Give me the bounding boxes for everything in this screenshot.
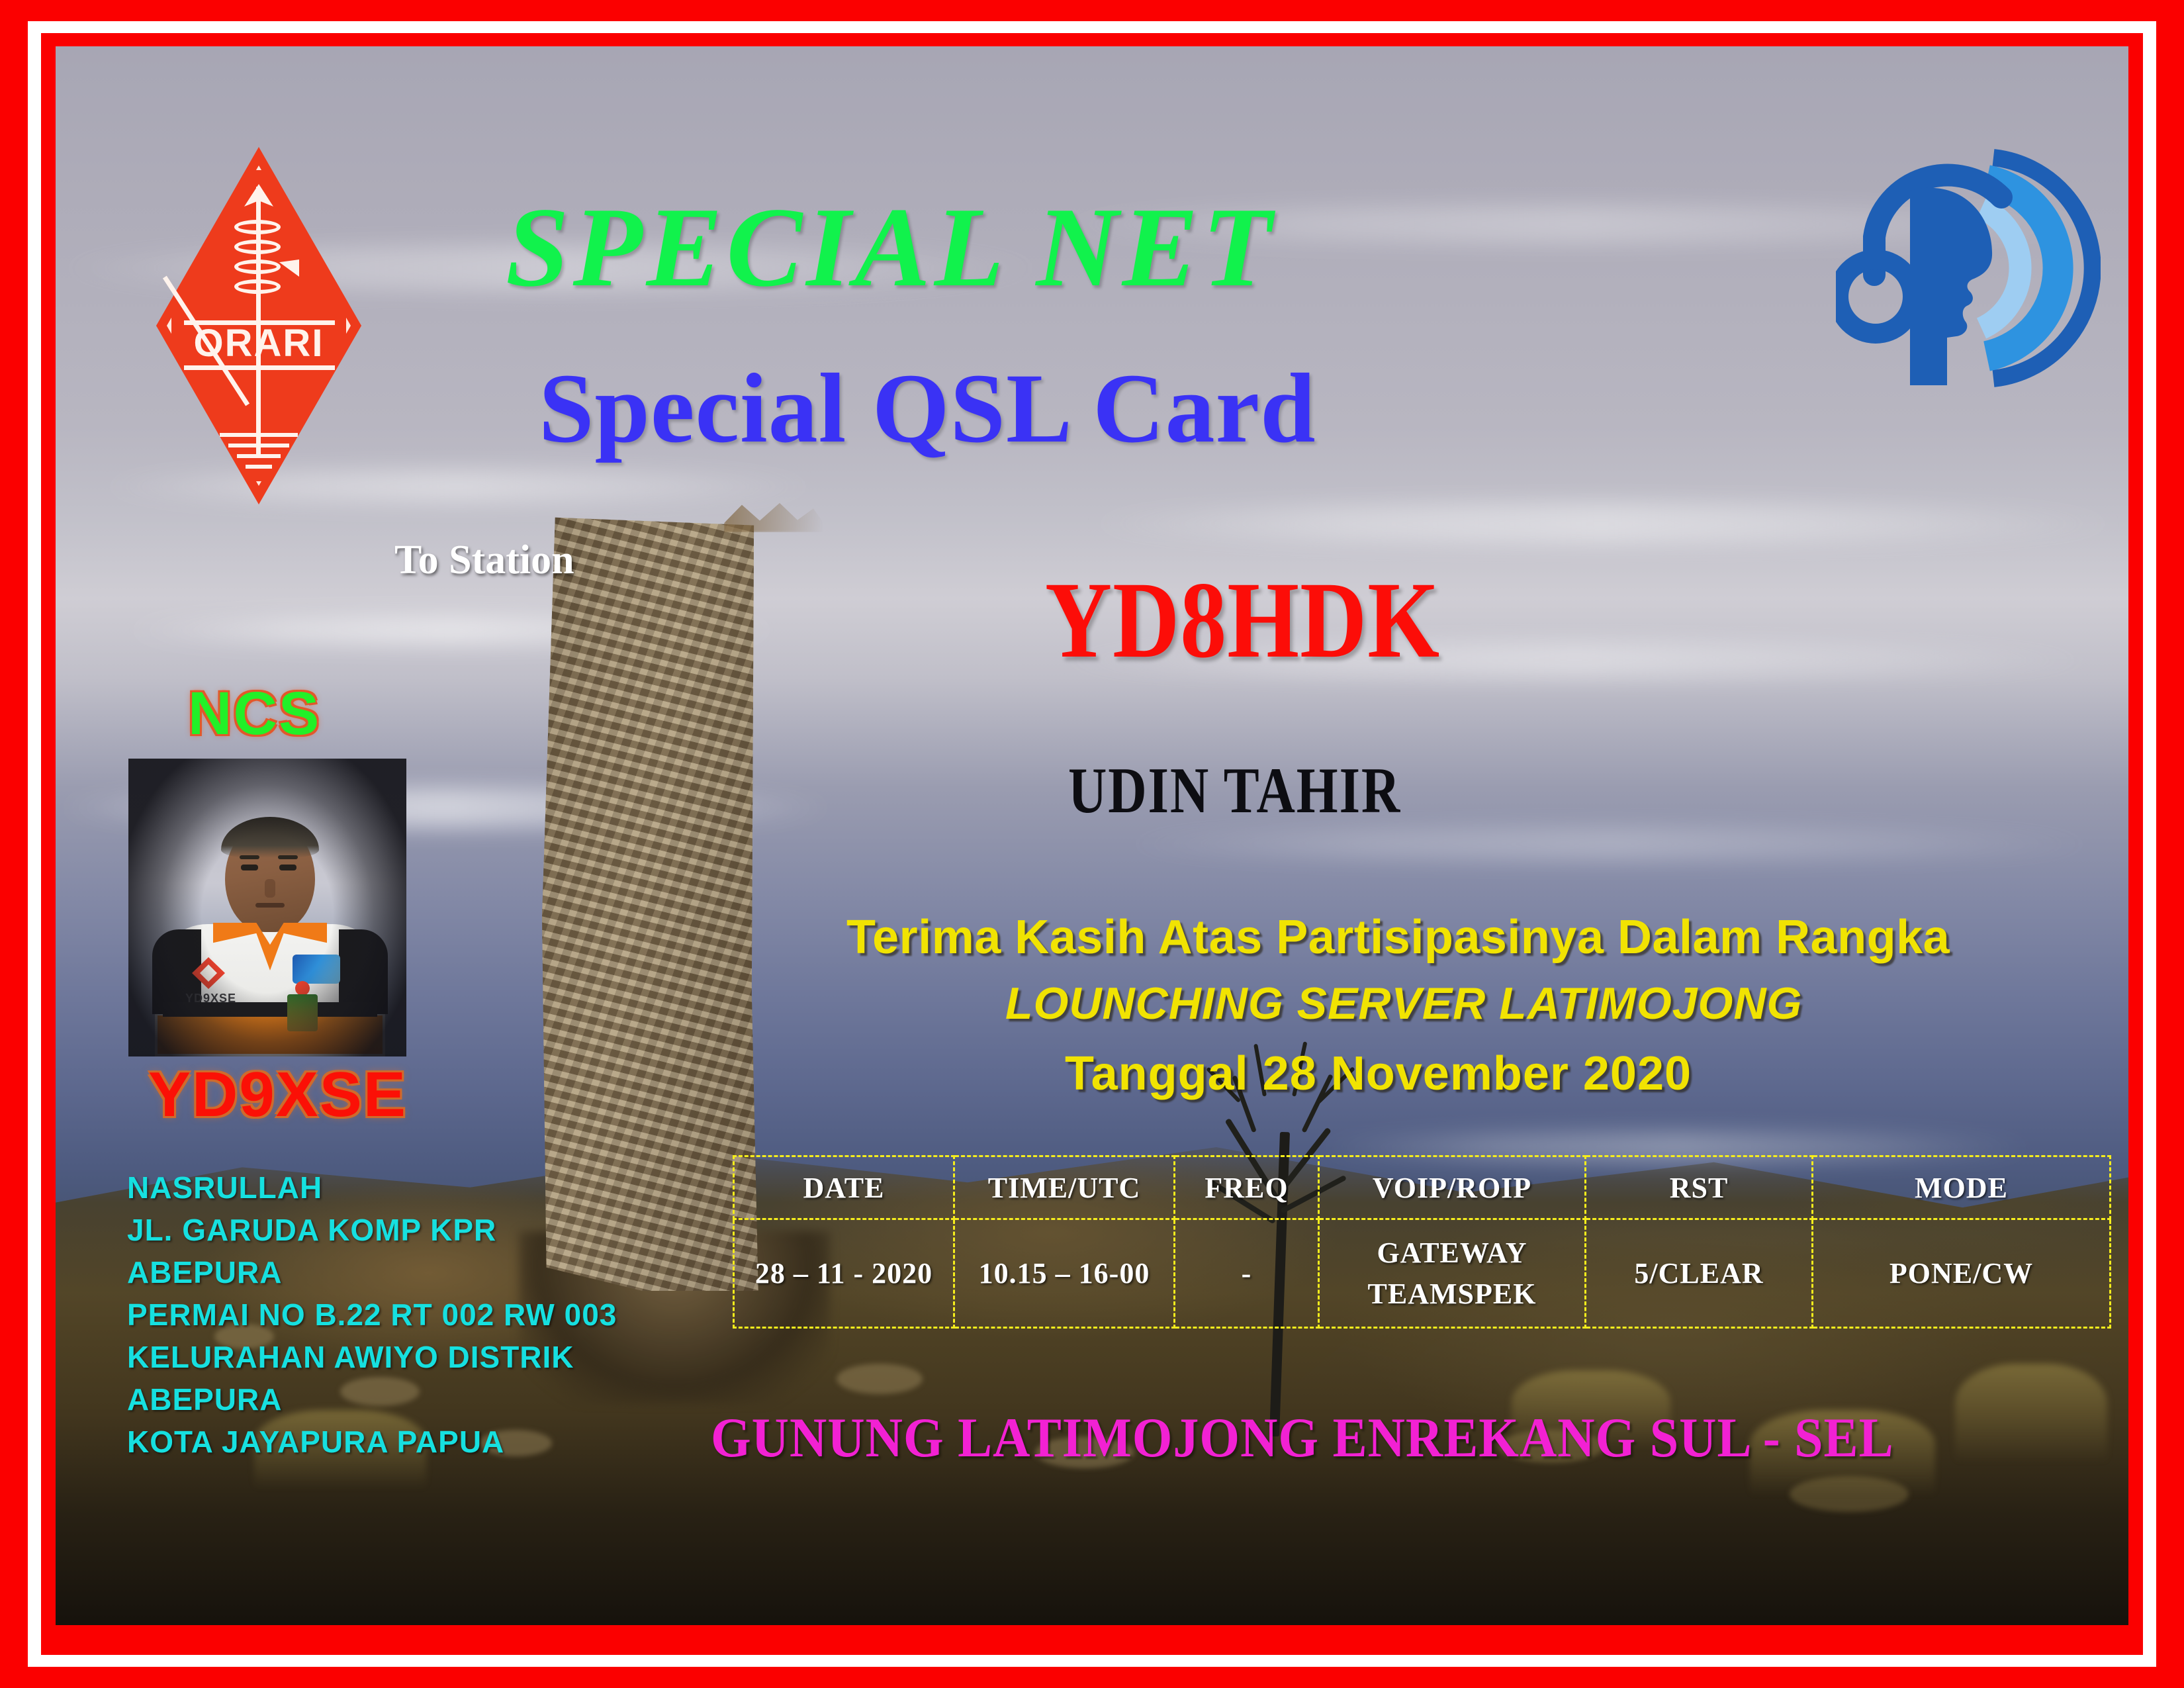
column-header-date: DATE [734, 1156, 954, 1219]
orari-logo: ORARI [156, 147, 361, 504]
address-line: KELURAHAN AWIYO DISTRIK [127, 1336, 670, 1378]
ground-texture [837, 1364, 923, 1394]
sender-address-block: NASRULLAHJL. GARUDA KOMP KPRABEPURAPERMA… [127, 1166, 670, 1463]
grass-tuft [1955, 1364, 2107, 1463]
ncs-label: NCS [188, 683, 320, 744]
coil-ring-icon [234, 220, 281, 234]
ground-symbol-bar [220, 433, 298, 437]
qsl-card-white-frame: ORARI SPECIAL NET Special QSL Car [28, 21, 2156, 1667]
cell-freq: - [1175, 1219, 1319, 1328]
operator-name: UDIN TAHIR [1068, 758, 1401, 823]
address-line: PERMAI NO B.22 RT 002 RW 003 [127, 1293, 670, 1336]
to-station-label: To Station [394, 539, 574, 581]
column-header-mode: MODE [1813, 1156, 2111, 1219]
address-line: KOTA JAYAPURA PAPUA [127, 1421, 670, 1463]
page-title-special-net: SPECIAL NET [506, 191, 1276, 305]
page-subtitle-special-qsl-card: Special QSL Card [539, 359, 1316, 458]
table-header-row: DATE TIME/UTC FREQ VOIP/ROIP RST MODE [734, 1156, 2111, 1219]
location-line: GUNUNG LATIMOJONG ENREKANG SUL - SEL [711, 1410, 1894, 1466]
ground-symbol-bar [228, 444, 289, 447]
headphone-head-logo [1836, 139, 2101, 397]
recipient-callsign: YD8HDK [1045, 566, 1440, 675]
qsl-card-inner-red-frame: ORARI SPECIAL NET Special QSL Car [41, 33, 2143, 1655]
cell-voip-roip: GATEWAY TEAMSPEK [1319, 1219, 1586, 1328]
cloud-streak [1081, 503, 2127, 544]
ground-symbol-bar [237, 454, 281, 458]
thanks-line-2-event: LOUNCHING SERVER LATIMOJONG [1005, 981, 1802, 1026]
cell-time-utc: 10.15 – 16-00 [954, 1219, 1175, 1328]
cell-rst: 5/CLEAR [1586, 1219, 1813, 1328]
thanks-line-3-date: Tanggal 28 November 2020 [1065, 1050, 1692, 1098]
address-line: JL. GARUDA KOMP KPR [127, 1209, 670, 1251]
address-line: ABEPURA [127, 1251, 670, 1293]
cloud-streak [1115, 827, 2107, 861]
thanks-line-1: Terima Kasih Atas Partisipasinya Dalam R… [846, 914, 1950, 961]
column-header-freq: FREQ [1175, 1156, 1319, 1219]
table-row: 28 – 11 - 2020 10.15 – 16-00 - GATEWAY T… [734, 1219, 2111, 1328]
column-header-voip-roip: VOIP/ROIP [1319, 1156, 1586, 1219]
coil-ring-icon [234, 259, 281, 274]
ncs-callsign: YD9XSE [148, 1063, 407, 1127]
column-header-time-utc: TIME/UTC [954, 1156, 1175, 1219]
address-line: ABEPURA [127, 1378, 670, 1421]
ground-symbol-bar [246, 465, 272, 469]
cell-mode: PONE/CW [1813, 1219, 2111, 1328]
orari-band-bottom [184, 365, 335, 370]
orari-wordmark: ORARI [156, 322, 361, 365]
cell-date: 28 – 11 - 2020 [734, 1219, 954, 1328]
cell-voip-roip-line1: GATEWAY [1320, 1233, 1584, 1274]
qsl-card-outer-frame: ORARI SPECIAL NET Special QSL Car [0, 0, 2184, 1688]
ncs-operator-portrait: YD9XSE [128, 759, 406, 1056]
qsl-card-photo-area: ORARI SPECIAL NET Special QSL Car [56, 46, 2128, 1625]
coil-ring-icon [234, 279, 281, 294]
address-line: NASRULLAH [127, 1166, 670, 1209]
coil-ring-icon [234, 240, 281, 254]
cell-voip-roip-line2: TEAMSPEK [1320, 1274, 1584, 1315]
column-header-rst: RST [1586, 1156, 1813, 1219]
qso-log-table: DATE TIME/UTC FREQ VOIP/ROIP RST MODE 28… [733, 1155, 2111, 1329]
